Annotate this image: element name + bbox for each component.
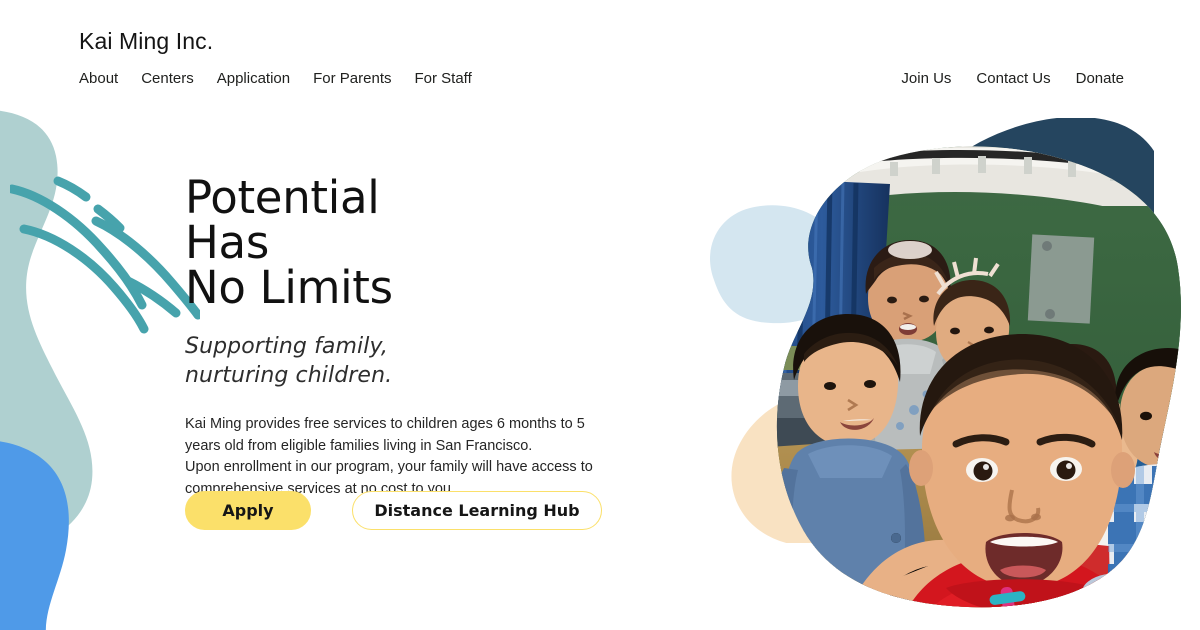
- apply-button[interactable]: Apply: [185, 491, 311, 530]
- classroom-photo: [700, 118, 1200, 630]
- nav-item-application[interactable]: Application: [217, 69, 290, 88]
- nav-item-contact-us[interactable]: Contact Us: [976, 69, 1050, 88]
- hero-paragraph-1: Kai Ming provides free services to child…: [185, 414, 593, 457]
- distance-learning-hub-button[interactable]: Distance Learning Hub: [352, 491, 602, 530]
- secondary-navigation: Join Us Contact Us Donate: [901, 69, 1124, 88]
- hero-description: Kai Ming provides free services to child…: [185, 414, 593, 500]
- photo-contents: [754, 138, 1200, 630]
- plastic-toy: [1148, 510, 1194, 615]
- landing-page: Kai Ming Inc. About Centers Application …: [0, 0, 1200, 630]
- headline-line-2: Has: [185, 220, 615, 265]
- child-right-plaid: [1108, 348, 1200, 630]
- blue-blob: [0, 440, 200, 630]
- nav-item-for-parents[interactable]: For Parents: [313, 69, 391, 88]
- brand-logo[interactable]: Kai Ming Inc.: [79, 28, 213, 55]
- nav-item-donate[interactable]: Donate: [1076, 69, 1124, 88]
- hero-media: [700, 118, 1200, 630]
- nav-item-centers[interactable]: Centers: [141, 69, 194, 88]
- headline-line-1: Potential: [185, 175, 615, 220]
- headline-line-3: No Limits: [185, 265, 615, 310]
- nav-item-join-us[interactable]: Join Us: [901, 69, 951, 88]
- nav-item-about[interactable]: About: [79, 69, 118, 88]
- teal-wave-strokes-left: [10, 165, 200, 335]
- hero-subheadline: Supporting family, nurturing children.: [185, 332, 485, 390]
- nav-item-for-staff[interactable]: For Staff: [415, 69, 472, 88]
- hero-content: Potential Has No Limits Supporting famil…: [185, 175, 615, 500]
- hero-cta-group: Apply Distance Learning Hub: [185, 491, 602, 530]
- primary-navigation: About Centers Application For Parents Fo…: [79, 69, 472, 88]
- hero-headline: Potential Has No Limits: [185, 175, 615, 310]
